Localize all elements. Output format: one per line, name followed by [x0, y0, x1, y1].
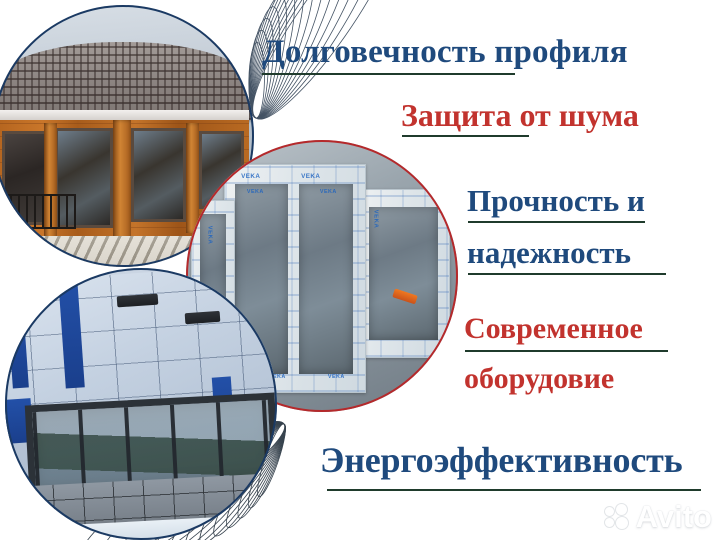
- headline-rule-1: [262, 73, 515, 75]
- headline-noise-protection: Защита от шума: [401, 99, 639, 131]
- headline-rule-5: [465, 350, 668, 352]
- headline-reliability: надежность: [467, 237, 631, 268]
- headline-equipment: оборудовие: [464, 364, 614, 394]
- avito-watermark: Avito: [605, 501, 712, 532]
- headline-durability: Долговечность профиля: [262, 36, 628, 69]
- poster-canvas: VEKA VEKA VEKA VEKA VEKA VEKA VEKA VEKA: [0, 0, 720, 540]
- headline-block: Долговечность профиля Защита от шума Про…: [0, 0, 720, 540]
- headline-rule-3: [468, 221, 645, 223]
- headline-rule-4: [468, 273, 666, 275]
- avito-dots-icon: [605, 504, 631, 530]
- headline-rule-2: [402, 135, 529, 137]
- headline-modern: Современное: [464, 314, 643, 344]
- headline-rule-7: [327, 489, 701, 491]
- headline-energy-efficiency: Энергоэффективность: [320, 442, 682, 478]
- headline-strength: Прочность и: [467, 185, 645, 216]
- avito-wordmark: Avito: [636, 501, 712, 532]
